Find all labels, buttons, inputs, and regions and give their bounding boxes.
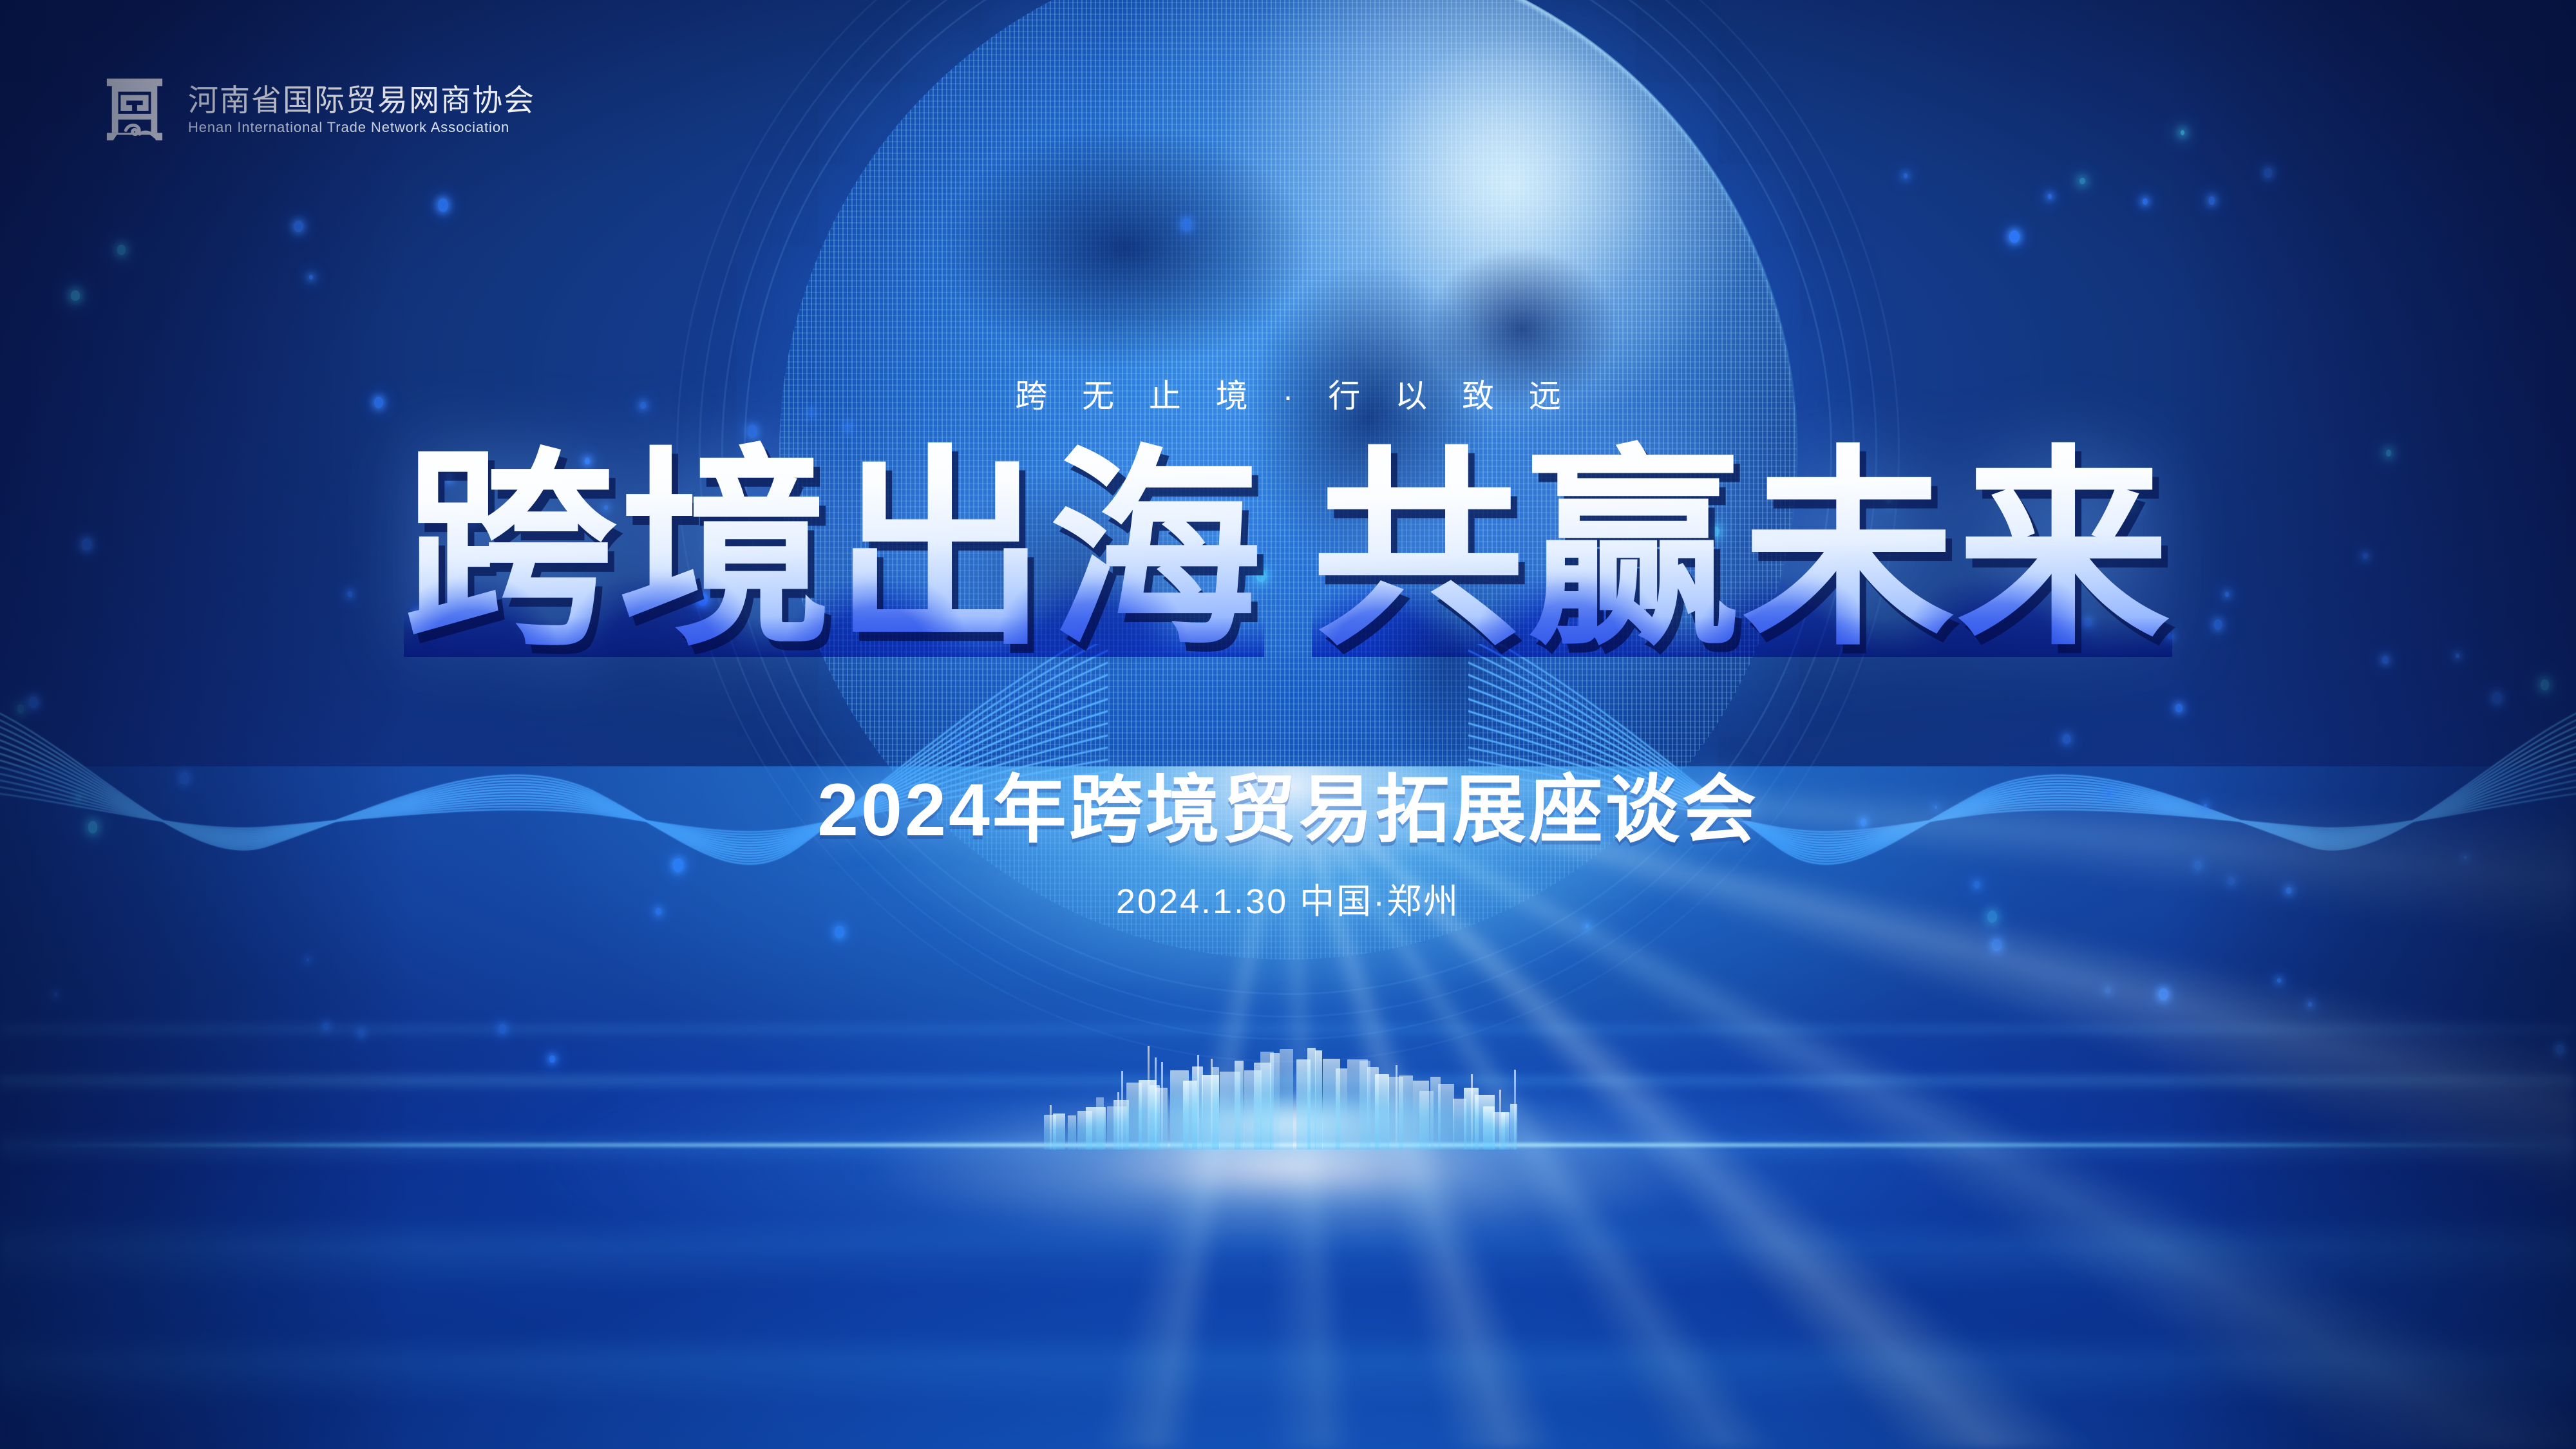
- city-spire: [1514, 1070, 1516, 1150]
- city-building: [1212, 1067, 1219, 1150]
- title-part-2: 共赢未来: [1312, 431, 2172, 669]
- city-building: [1235, 1061, 1244, 1150]
- glow-particle: [309, 275, 313, 279]
- page-title: 跨境出海 共赢未来: [0, 444, 2576, 657]
- city-building: [1336, 1068, 1347, 1150]
- glow-particle: [2048, 194, 2052, 199]
- city-spire: [1121, 1071, 1123, 1150]
- city-building: [1375, 1074, 1390, 1150]
- glow-particle: [2209, 196, 2215, 204]
- glow-particle: [2264, 168, 2272, 178]
- glow-particle: [117, 245, 126, 255]
- title-segment-1: 跨境出海: [404, 444, 1264, 657]
- city-building: [1438, 1084, 1454, 1150]
- city-spire: [1050, 1105, 1052, 1150]
- city-building: [1280, 1049, 1293, 1150]
- city-building: [1096, 1097, 1104, 1150]
- association-name-en: Henan International Trade Network Associ…: [188, 120, 535, 135]
- glow-particle: [2143, 198, 2148, 205]
- glow-particle: [2009, 231, 2020, 243]
- city-building: [1501, 1112, 1510, 1150]
- city-spire: [1499, 1090, 1501, 1150]
- city-building: [1307, 1048, 1315, 1150]
- association-logo[interactable]: 河南省国际贸易网商协会 Henan International Trade Ne…: [103, 76, 535, 143]
- glow-particle: [1904, 173, 1908, 178]
- city-spire: [1197, 1055, 1199, 1150]
- glow-particle: [2181, 130, 2184, 135]
- city-building: [1315, 1050, 1322, 1150]
- logo-text-block: 河南省国际贸易网商协会 Henan International Trade Ne…: [188, 84, 535, 135]
- association-name-cn: 河南省国际贸易网商协会: [188, 84, 535, 117]
- glow-particle: [2079, 178, 2085, 185]
- title-part-1: 跨境出海: [404, 431, 1264, 669]
- title-segment-2: 共赢未来: [1312, 444, 2172, 657]
- event-subtitle: 2024年跨境贸易拓展座谈会: [0, 750, 2576, 857]
- city-spire: [1161, 1062, 1163, 1150]
- city-building: [1270, 1053, 1280, 1150]
- event-poster: 河南省国际贸易网商协会 Henan International Trade Ne…: [0, 0, 2576, 1449]
- city-skyline-icon: [1043, 1043, 1533, 1150]
- city-spire: [1471, 1074, 1473, 1150]
- hero-tagline: 跨 无 止 境 · 行 以 致 远: [0, 370, 2576, 417]
- city-building: [1068, 1115, 1075, 1150]
- henan-trade-seal-icon: [103, 76, 166, 143]
- event-date-location: 2024.1.30 中国·郑州: [0, 873, 2576, 923]
- glow-particle: [294, 221, 303, 232]
- glow-particle: [71, 290, 79, 301]
- glow-particle: [438, 198, 449, 212]
- city-building: [1399, 1075, 1412, 1150]
- city-building: [1053, 1113, 1065, 1150]
- city-spire: [1396, 1065, 1397, 1150]
